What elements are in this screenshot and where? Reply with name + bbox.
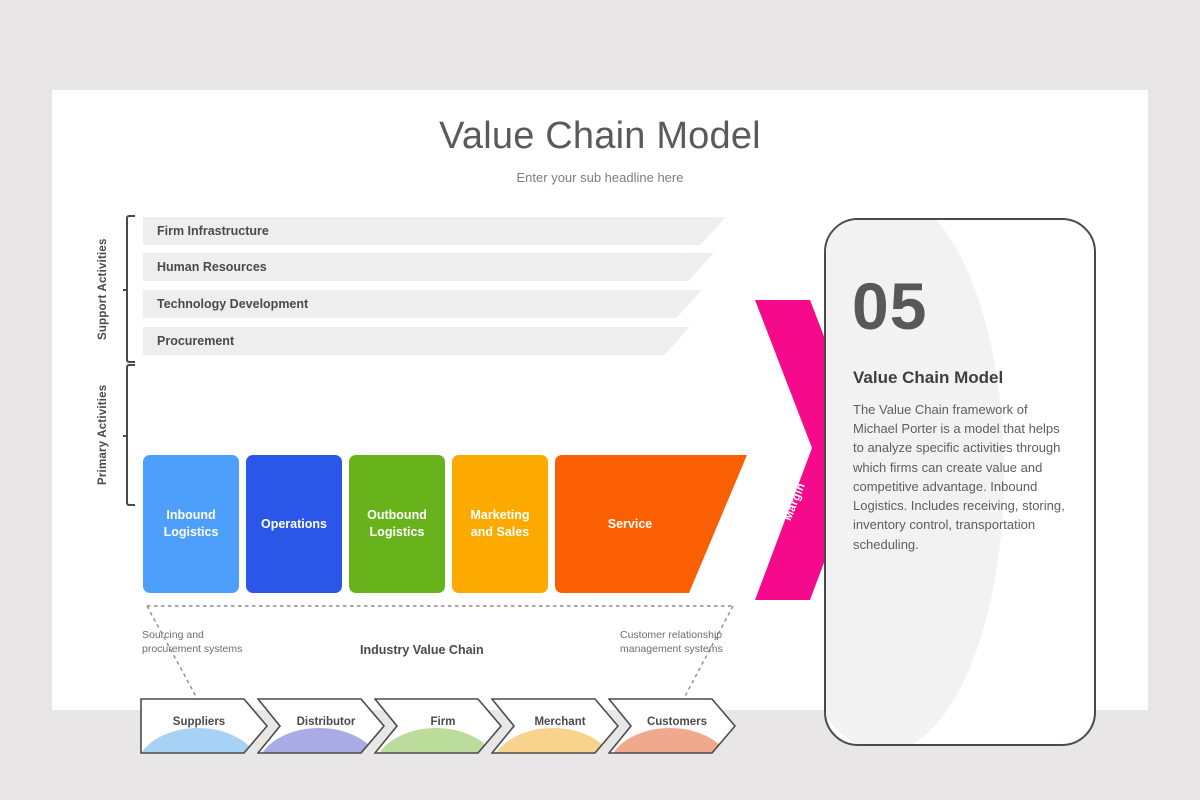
support-activity-label: Human Resources bbox=[157, 260, 267, 274]
card-heading: Value Chain Model bbox=[853, 368, 1003, 388]
stage-merchant[interactable]: Merchant bbox=[491, 698, 619, 754]
primary-activity-label-line1: Marketing bbox=[470, 507, 529, 524]
stage-customers[interactable]: Customers bbox=[608, 698, 736, 754]
primary-activity-label-line2: and Sales bbox=[470, 524, 529, 541]
left-caption-line1: Sourcing and bbox=[142, 628, 272, 642]
support-activities-bracket-label: Support Activities bbox=[97, 215, 109, 363]
card-number: 05 bbox=[852, 268, 927, 344]
primary-activity-operations[interactable]: Operations bbox=[246, 455, 342, 593]
support-activity-row[interactable]: Technology Development bbox=[143, 290, 673, 318]
primary-activity-label-line1: Service bbox=[555, 455, 705, 593]
left-caption-line2: procurement systems bbox=[142, 642, 272, 656]
industry-value-chain-right-caption: Customer relationship management systems bbox=[620, 628, 760, 656]
page-subtitle: Enter your sub headline here bbox=[52, 170, 1148, 185]
support-activity-row[interactable]: Firm Infrastructure bbox=[143, 217, 697, 245]
right-caption-line2: management systems bbox=[620, 642, 760, 656]
primary-activities-bracket bbox=[126, 364, 135, 506]
primary-activity-label-line2: Logistics bbox=[164, 524, 219, 541]
primary-activity-outbound-logistics[interactable]: Outbound Logistics bbox=[349, 455, 445, 593]
industry-value-chain-left-caption: Sourcing and procurement systems bbox=[142, 628, 272, 656]
stage-label: Merchant bbox=[501, 716, 619, 728]
support-activity-label: Firm Infrastructure bbox=[157, 224, 269, 238]
stage-label: Firm bbox=[384, 716, 502, 728]
support-activities-bracket bbox=[126, 215, 135, 363]
support-activity-label: Technology Development bbox=[157, 297, 308, 311]
stage-label: Distributor bbox=[267, 716, 385, 728]
stage-label: Customers bbox=[618, 716, 736, 728]
info-card: 05 Value Chain Model The Value Chain fra… bbox=[824, 218, 1096, 746]
slide-canvas: Value Chain Model Enter your sub headlin… bbox=[52, 90, 1148, 710]
stage-distributor[interactable]: Distributor bbox=[257, 698, 385, 754]
primary-activity-label-line2: Logistics bbox=[367, 524, 427, 541]
page-title: Value Chain Model bbox=[52, 115, 1148, 158]
primary-activity-label-line1: Operations bbox=[261, 516, 327, 533]
primary-activity-label-line1: Outbound bbox=[367, 507, 427, 524]
support-activity-row[interactable]: Human Resources bbox=[143, 253, 685, 281]
card-body-text: The Value Chain framework of Michael Por… bbox=[853, 400, 1071, 554]
primary-activity-label-line1: Inbound bbox=[164, 507, 219, 524]
primary-activity-inbound-logistics[interactable]: Inbound Logistics bbox=[143, 455, 239, 593]
primary-activities-bracket-label: Primary Activities bbox=[97, 366, 109, 504]
industry-value-chain-center-label: Industry Value Chain bbox=[360, 643, 484, 657]
support-activity-label: Procurement bbox=[157, 334, 234, 348]
stage-label: Suppliers bbox=[140, 716, 258, 728]
primary-activity-marketing-and-sales[interactable]: Marketing and Sales bbox=[452, 455, 548, 593]
support-activity-row[interactable]: Procurement bbox=[143, 327, 661, 355]
stage-suppliers[interactable]: Suppliers bbox=[140, 698, 268, 754]
stage-firm[interactable]: Firm bbox=[374, 698, 502, 754]
right-caption-line1: Customer relationship bbox=[620, 628, 760, 642]
